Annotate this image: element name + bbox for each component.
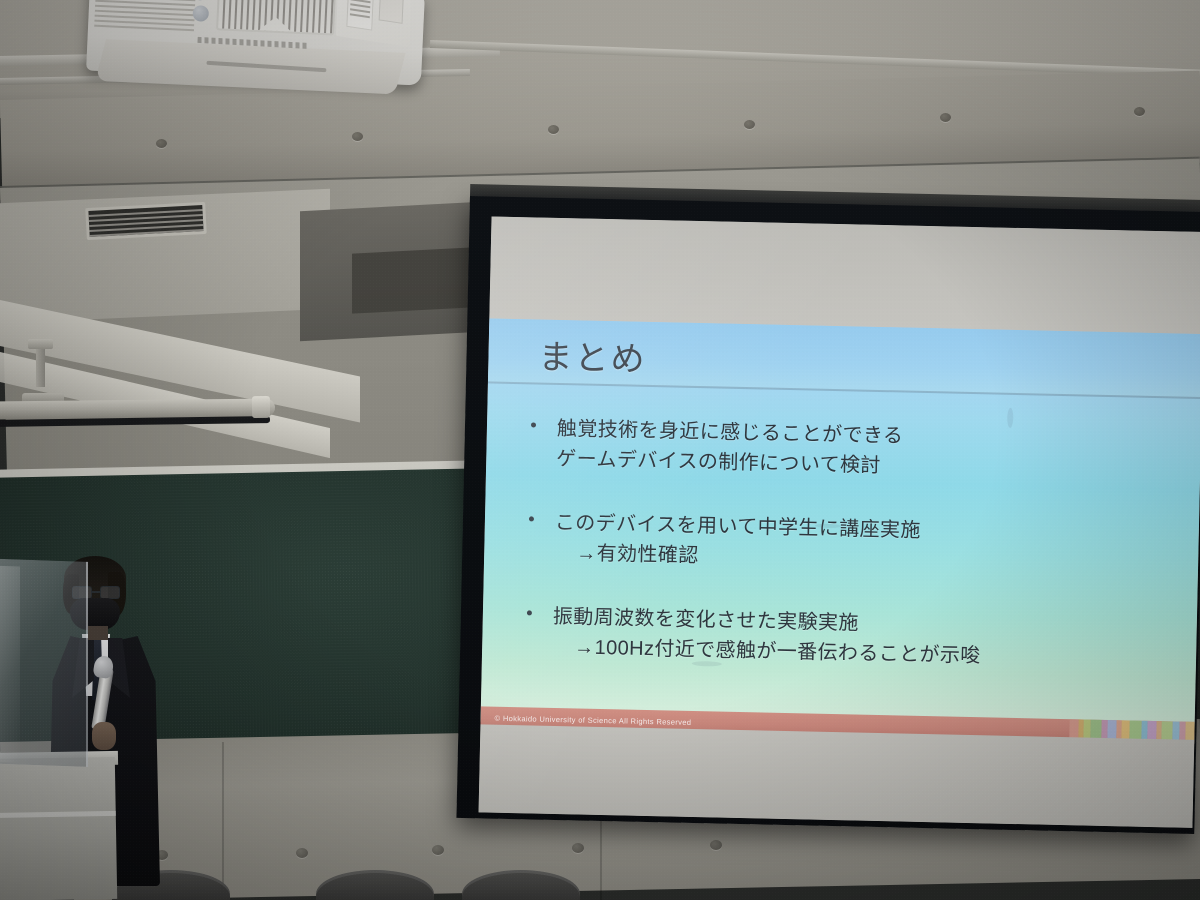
wall-bolt-icon <box>296 848 308 858</box>
beam-bolt-icon <box>352 132 363 141</box>
beam-bolt-icon <box>156 139 167 148</box>
slide-bullet-item: 触覚技術を身近に感じることができる ゲームデバイスの制作について検討 <box>530 413 1171 487</box>
rod-end-cap <box>252 396 270 418</box>
podium <box>0 757 117 900</box>
bullet-dot-icon <box>531 422 536 427</box>
lecture-hall-scene: まとめ 触覚技術を身近に感じることができる ゲームデバイスの制作について検討 こ… <box>0 0 1200 900</box>
wall-bolt-icon <box>572 843 584 853</box>
wall-bolt-icon <box>432 845 444 855</box>
slide-bullet-item: このデバイスを用いて中学生に講座実施 →有効性確認 <box>528 507 1169 581</box>
letterbox-bottom <box>479 724 1195 828</box>
slide-bullet-list: 触覚技術を身近に感じることができる ゲームデバイスの制作について検討 このデバイ… <box>525 413 1171 709</box>
acrylic-shield-glare <box>0 565 20 762</box>
beam-bolt-icon <box>940 113 951 122</box>
wall-seam <box>222 742 224 900</box>
presentation-slide: まとめ 触覚技術を身近に感じることができる ゲームデバイスの制作について検討 こ… <box>480 318 1200 743</box>
screen-surface: まとめ 触覚技術を身近に感じることができる ゲームデバイスの制作について検討 こ… <box>479 216 1200 827</box>
projection-screen: まとめ 触覚技術を身近に感じることができる ゲームデバイスの制作について検討 こ… <box>456 196 1200 834</box>
slide-bullet-item: 振動周波数を変化させた実験実施 →100Hz付近で感触が一番伝わることが示唆 <box>526 601 1167 675</box>
letterbox-top <box>489 216 1200 334</box>
bullet-dot-icon <box>527 610 532 615</box>
slide-title: まとめ <box>538 330 647 381</box>
projector-exhaust-vent-icon <box>216 0 336 36</box>
beam-bolt-icon <box>744 120 755 129</box>
beam-bolt-icon <box>548 125 559 134</box>
beam-bolt-icon <box>1134 107 1145 116</box>
neck <box>88 626 108 640</box>
air-vent-icon <box>85 202 207 240</box>
bullet-dot-icon <box>529 516 534 521</box>
ceiling-projector <box>86 0 425 86</box>
rod-bracket <box>36 347 45 387</box>
presenter-hand <box>92 722 116 750</box>
projector-label-sticker-2 <box>379 0 404 24</box>
projector-label-sticker <box>346 0 373 31</box>
projector-intake-grille-icon <box>94 0 196 35</box>
wall-bolt-icon <box>710 840 722 850</box>
